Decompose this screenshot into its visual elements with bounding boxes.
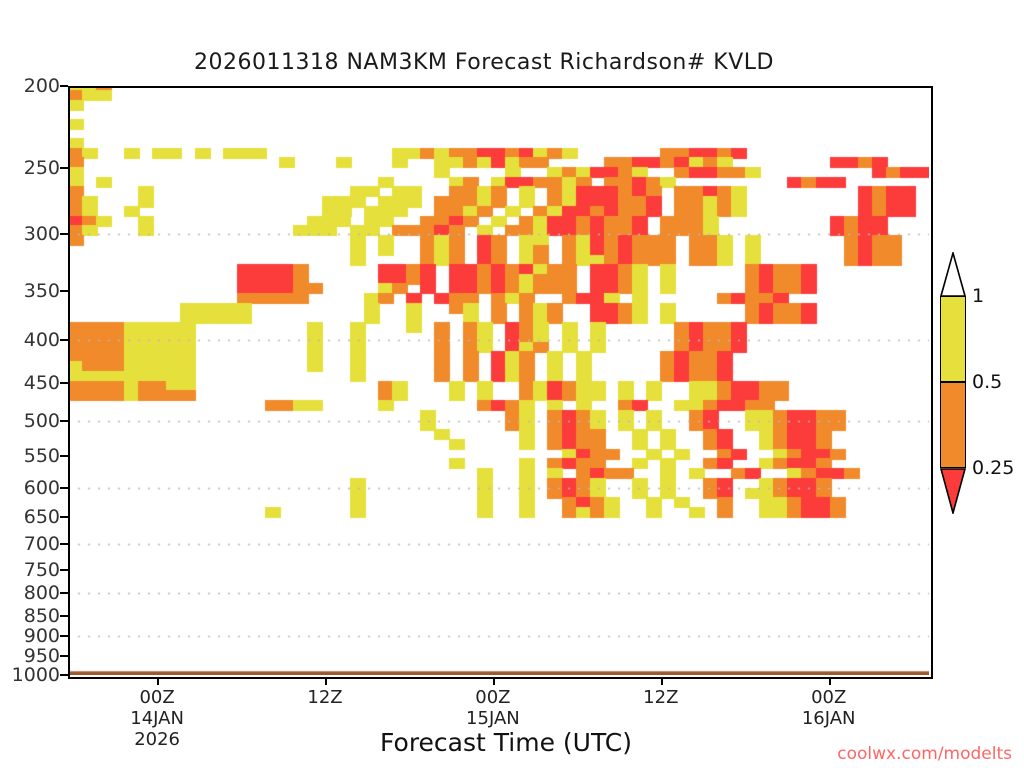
chart-canvas-root: 2026011318 NAM3KM Forecast Richardson# K… bbox=[0, 0, 1024, 768]
x-axis-label-line: 00Z bbox=[802, 687, 856, 708]
plot-area bbox=[68, 86, 929, 675]
y-axis-tick bbox=[60, 233, 68, 235]
x-axis-label: 00Z15JAN bbox=[466, 687, 520, 729]
y-axis-tick bbox=[60, 543, 68, 545]
y-axis-tick bbox=[60, 569, 68, 571]
colorbar-segment bbox=[940, 382, 966, 468]
y-axis-tick bbox=[60, 167, 68, 169]
x-axis-tick bbox=[325, 677, 327, 685]
x-axis-tick bbox=[493, 677, 495, 685]
y-axis-tick bbox=[60, 455, 68, 457]
x-axis-label: 00Z16JAN bbox=[802, 687, 856, 729]
y-axis-tick bbox=[60, 85, 68, 87]
y-axis-tick bbox=[60, 420, 68, 422]
y-axis-tick bbox=[60, 382, 68, 384]
colorbar-label: 1 bbox=[972, 285, 984, 307]
y-axis-tick bbox=[60, 290, 68, 292]
x-axis-label-line: 00Z bbox=[466, 687, 520, 708]
x-axis-label: 12Z bbox=[643, 687, 678, 708]
y-axis-tick bbox=[60, 674, 68, 676]
y-axis-ticks bbox=[0, 86, 68, 675]
y-axis-tick bbox=[60, 516, 68, 518]
y-axis-tick bbox=[60, 655, 68, 657]
chart-title-text: 2026011318 NAM3KM Forecast Richardson# K… bbox=[194, 50, 774, 75]
x-axis-label-line: 14JAN bbox=[130, 708, 184, 729]
richardson-heatmap bbox=[68, 86, 929, 675]
x-axis-tick bbox=[661, 677, 663, 685]
x-axis-label-line: 16JAN bbox=[802, 708, 856, 729]
x-axis-label-line: 00Z bbox=[130, 687, 184, 708]
x-axis-label-line: 15JAN bbox=[466, 708, 520, 729]
watermark: coolwx.com/modelts bbox=[837, 744, 1012, 764]
y-axis-tick bbox=[60, 592, 68, 594]
x-axis-tick bbox=[157, 677, 159, 685]
colorbar-bottom-arrow bbox=[940, 468, 966, 514]
y-axis-tick bbox=[60, 487, 68, 489]
colorbar-segment bbox=[940, 296, 966, 382]
colorbar-label: 0.25 bbox=[972, 457, 1014, 479]
chart-title: 2026011318 NAM3KM Forecast Richardson# K… bbox=[0, 50, 1024, 75]
x-axis-label: 12Z bbox=[307, 687, 342, 708]
y-axis-tick bbox=[60, 339, 68, 341]
y-axis-tick bbox=[60, 635, 68, 637]
colorbar bbox=[940, 296, 966, 468]
x-axis-label-line: 12Z bbox=[643, 687, 678, 708]
y-axis-tick bbox=[60, 615, 68, 617]
x-axis-label-line: 12Z bbox=[307, 687, 342, 708]
x-axis-title-text: Forecast Time (UTC) bbox=[380, 728, 632, 757]
colorbar-top-arrow bbox=[940, 252, 966, 296]
x-axis-tick bbox=[829, 677, 831, 685]
colorbar-label: 0.5 bbox=[972, 371, 1002, 393]
